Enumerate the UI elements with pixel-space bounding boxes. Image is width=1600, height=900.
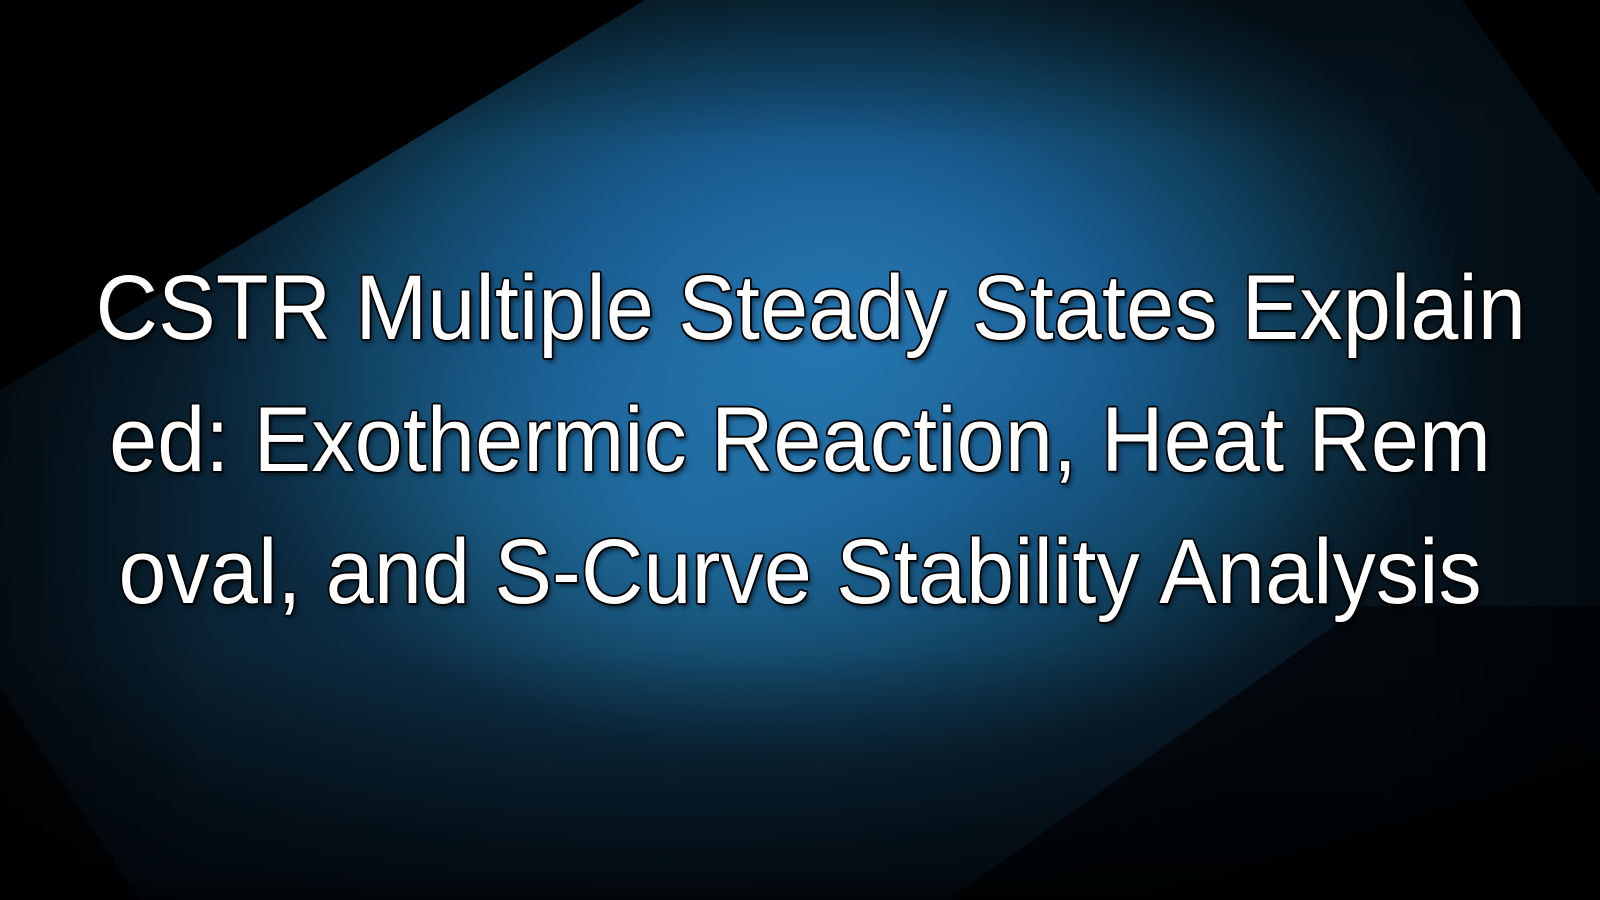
title-line-3: oval, and S-Curve Stability Analysis [118,506,1481,638]
video-title-card: CSTR Multiple Steady States Explain ed: … [0,0,1600,900]
title-block: CSTR Multiple Steady States Explain ed: … [0,242,1600,638]
title-line-1: CSTR Multiple Steady States Explain [96,242,1526,374]
title-line-2: ed: Exothermic Reaction, Heat Rem [109,374,1491,506]
